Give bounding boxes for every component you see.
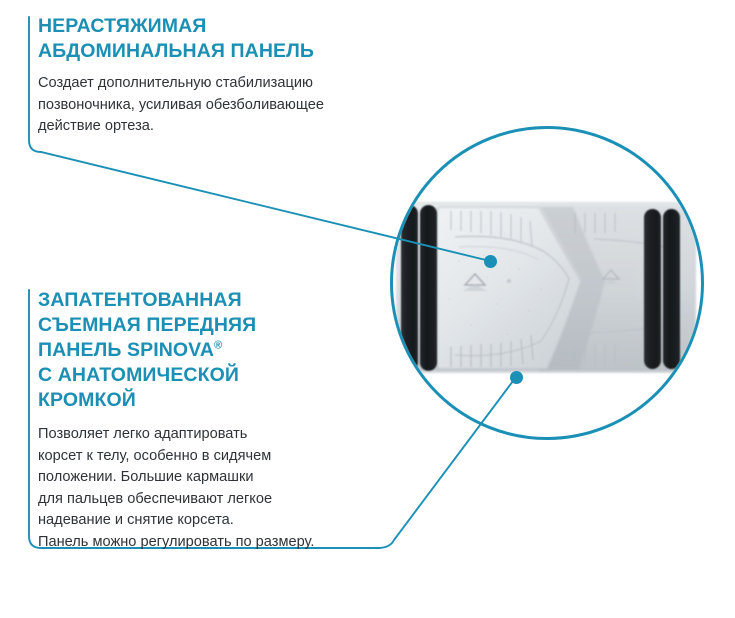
back-brace-illustration [390,129,704,440]
callout-1-heading: НЕРАСТЯЖИМАЯ АБДОМИНАЛЬНАЯ ПАНЕЛЬ [38,14,383,64]
callout-2-heading-line-2: СЪЕМНАЯ ПЕРЕДНЯЯ [38,314,256,336]
callout-2-heading: ЗАПАТЕНТОВАННАЯ СЪЕМНАЯ ПЕРЕДНЯЯ ПАНЕЛЬ … [38,288,378,413]
hotspot-front-panel[interactable] [510,371,523,384]
callout-2-heading-line-5: КРОМКОЙ [38,389,136,411]
callout-2-heading-line-1: ЗАПАТЕНТОВАННАЯ [38,289,242,311]
callout-abdominal-panel: НЕРАСТЯЖИМАЯ АБДОМИНАЛЬНАЯ ПАНЕЛЬ Создае… [38,14,383,138]
callout-2-heading-line-4: С АНАТОМИЧЕСКОЙ [38,364,239,386]
callout-2-heading-line-3: ПАНЕЛЬ SPINOVA [38,339,214,361]
callout-1-body: Создает дополнительную стабилизацию позв… [38,73,383,138]
registered-trademark-icon: ® [214,340,222,352]
hotspot-abdominal-panel[interactable] [484,255,497,268]
product-photo-circle [390,126,704,440]
infographic-canvas: НЕРАСТЯЖИМАЯ АБДОМИНАЛЬНАЯ ПАНЕЛЬ Создае… [0,0,735,618]
callout-front-panel: ЗАПАТЕНТОВАННАЯ СЪЕМНАЯ ПЕРЕДНЯЯ ПАНЕЛЬ … [38,288,378,553]
callout-2-body: Позволяет легко адаптировать корсет к те… [38,424,378,553]
product-photo [393,129,701,437]
